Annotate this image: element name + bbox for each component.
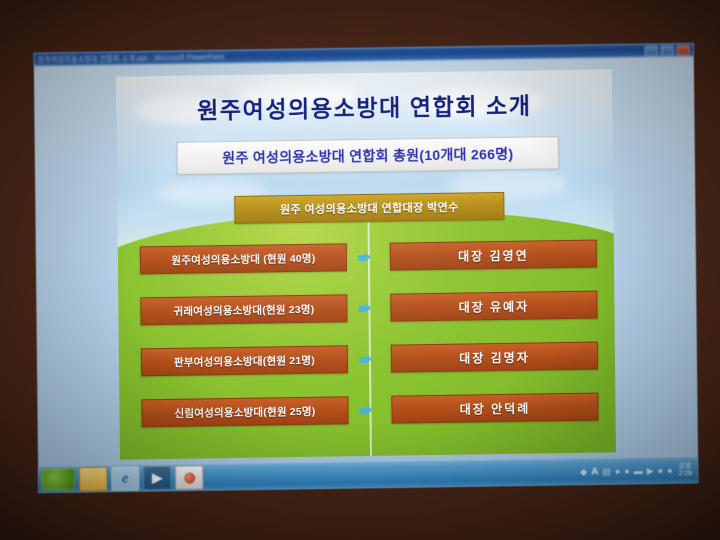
arrow-right-icon: [359, 354, 372, 365]
arrow-right-icon: [358, 303, 371, 314]
arrow-head: [366, 405, 372, 415]
total-strength-text: 원주 여성의용소방대 연합회 총원(10개대 266명): [222, 143, 513, 167]
tray-misc-icon[interactable]: ●: [667, 466, 673, 475]
tray-update-icon[interactable]: ●: [658, 466, 664, 475]
taskbar-clock[interactable]: 오후 2:08: [676, 463, 692, 478]
start-button[interactable]: [41, 468, 75, 491]
clock-time: 2:08: [679, 470, 693, 477]
media-player-icon[interactable]: ▶: [143, 466, 171, 490]
folder-icon[interactable]: [79, 467, 107, 491]
projected-slide-photograph: 원주여성의용소방대 연합회 소개.ppt - Microsoft PowerPo…: [0, 0, 720, 540]
chief-box: 대장 김영연: [390, 240, 597, 271]
unit-label: 신림여성의용소방대(현원 25명): [174, 403, 315, 420]
tray-volume-icon[interactable]: ▶: [647, 466, 654, 475]
window-title: 원주여성의용소방대 연합회 소개.ppt - Microsoft PowerPo…: [38, 52, 225, 65]
unit-box: 귀래여성의용소방대(현원 23명): [140, 294, 347, 325]
minimize-button[interactable]: [645, 45, 658, 55]
arrow-head: [365, 303, 371, 313]
unit-label: 판부여성의용소방대(현원 21명): [174, 352, 315, 369]
unit-label: 원주여성의용소방대 (현원 40명): [171, 250, 315, 267]
unit-label: 귀래여성의용소방대(현원 23명): [173, 301, 314, 318]
arrow-right-icon: [359, 405, 372, 416]
clock-period: 오후: [679, 463, 692, 470]
tray-keyboard-icon[interactable]: ▤: [602, 467, 611, 476]
total-strength-banner: 원주 여성의용소방대 연합회 총원(10개대 266명): [177, 136, 559, 175]
arrow-right-icon: [358, 252, 371, 263]
ime-indicator[interactable]: A: [591, 466, 598, 477]
window-controls: [645, 45, 690, 56]
close-button[interactable]: [677, 45, 690, 55]
chief-box: 대장 유예자: [390, 291, 597, 322]
tray-diamond-icon[interactable]: ◆: [580, 467, 587, 476]
app-icon[interactable]: [175, 465, 203, 489]
chief-box: 대장 김명자: [391, 342, 598, 373]
unit-box: 원주여성의용소방대 (현원 40명): [140, 243, 347, 274]
taskbar-spacer: [203, 472, 580, 478]
chief-label: 대장 유예자: [459, 297, 530, 315]
internet-explorer-icon[interactable]: e: [111, 466, 139, 490]
federation-leader-box: 원주 여성의용소방대 연합대장 박연수: [234, 192, 504, 224]
system-tray[interactable]: ◆ A ▤ ● ● ▬ ▶ ● ● 오후 2:08: [580, 457, 698, 485]
tray-network-icon[interactable]: ●: [624, 467, 630, 476]
projection-screen: 원주여성의용소방대 연합회 소개.ppt - Microsoft PowerPo…: [34, 43, 699, 493]
maximize-button[interactable]: [661, 45, 674, 55]
federation-leader-text: 원주 여성의용소방대 연합대장 박연수: [280, 199, 459, 218]
unit-box: 신림여성의용소방대(현원 25명): [141, 396, 348, 427]
unit-box: 판부여성의용소방대(현원 21명): [141, 345, 348, 376]
arrow-head: [365, 252, 371, 262]
chief-label: 대장 안덕례: [460, 399, 531, 417]
chief-label: 대장 김명자: [459, 348, 530, 366]
titlebar-spacer: [224, 50, 644, 56]
tray-shield-icon[interactable]: ●: [615, 467, 621, 476]
chief-box: 대장 안덕례: [391, 393, 598, 424]
tray-battery-icon[interactable]: ▬: [634, 466, 643, 475]
arrow-head: [366, 354, 372, 364]
app-glyph: [184, 472, 195, 483]
presentation-slide: 원주여성의용소방대 연합회 소개 원주 여성의용소방대 연합회 총원(10개대 …: [116, 69, 616, 459]
chief-label: 대장 김영연: [458, 246, 529, 264]
